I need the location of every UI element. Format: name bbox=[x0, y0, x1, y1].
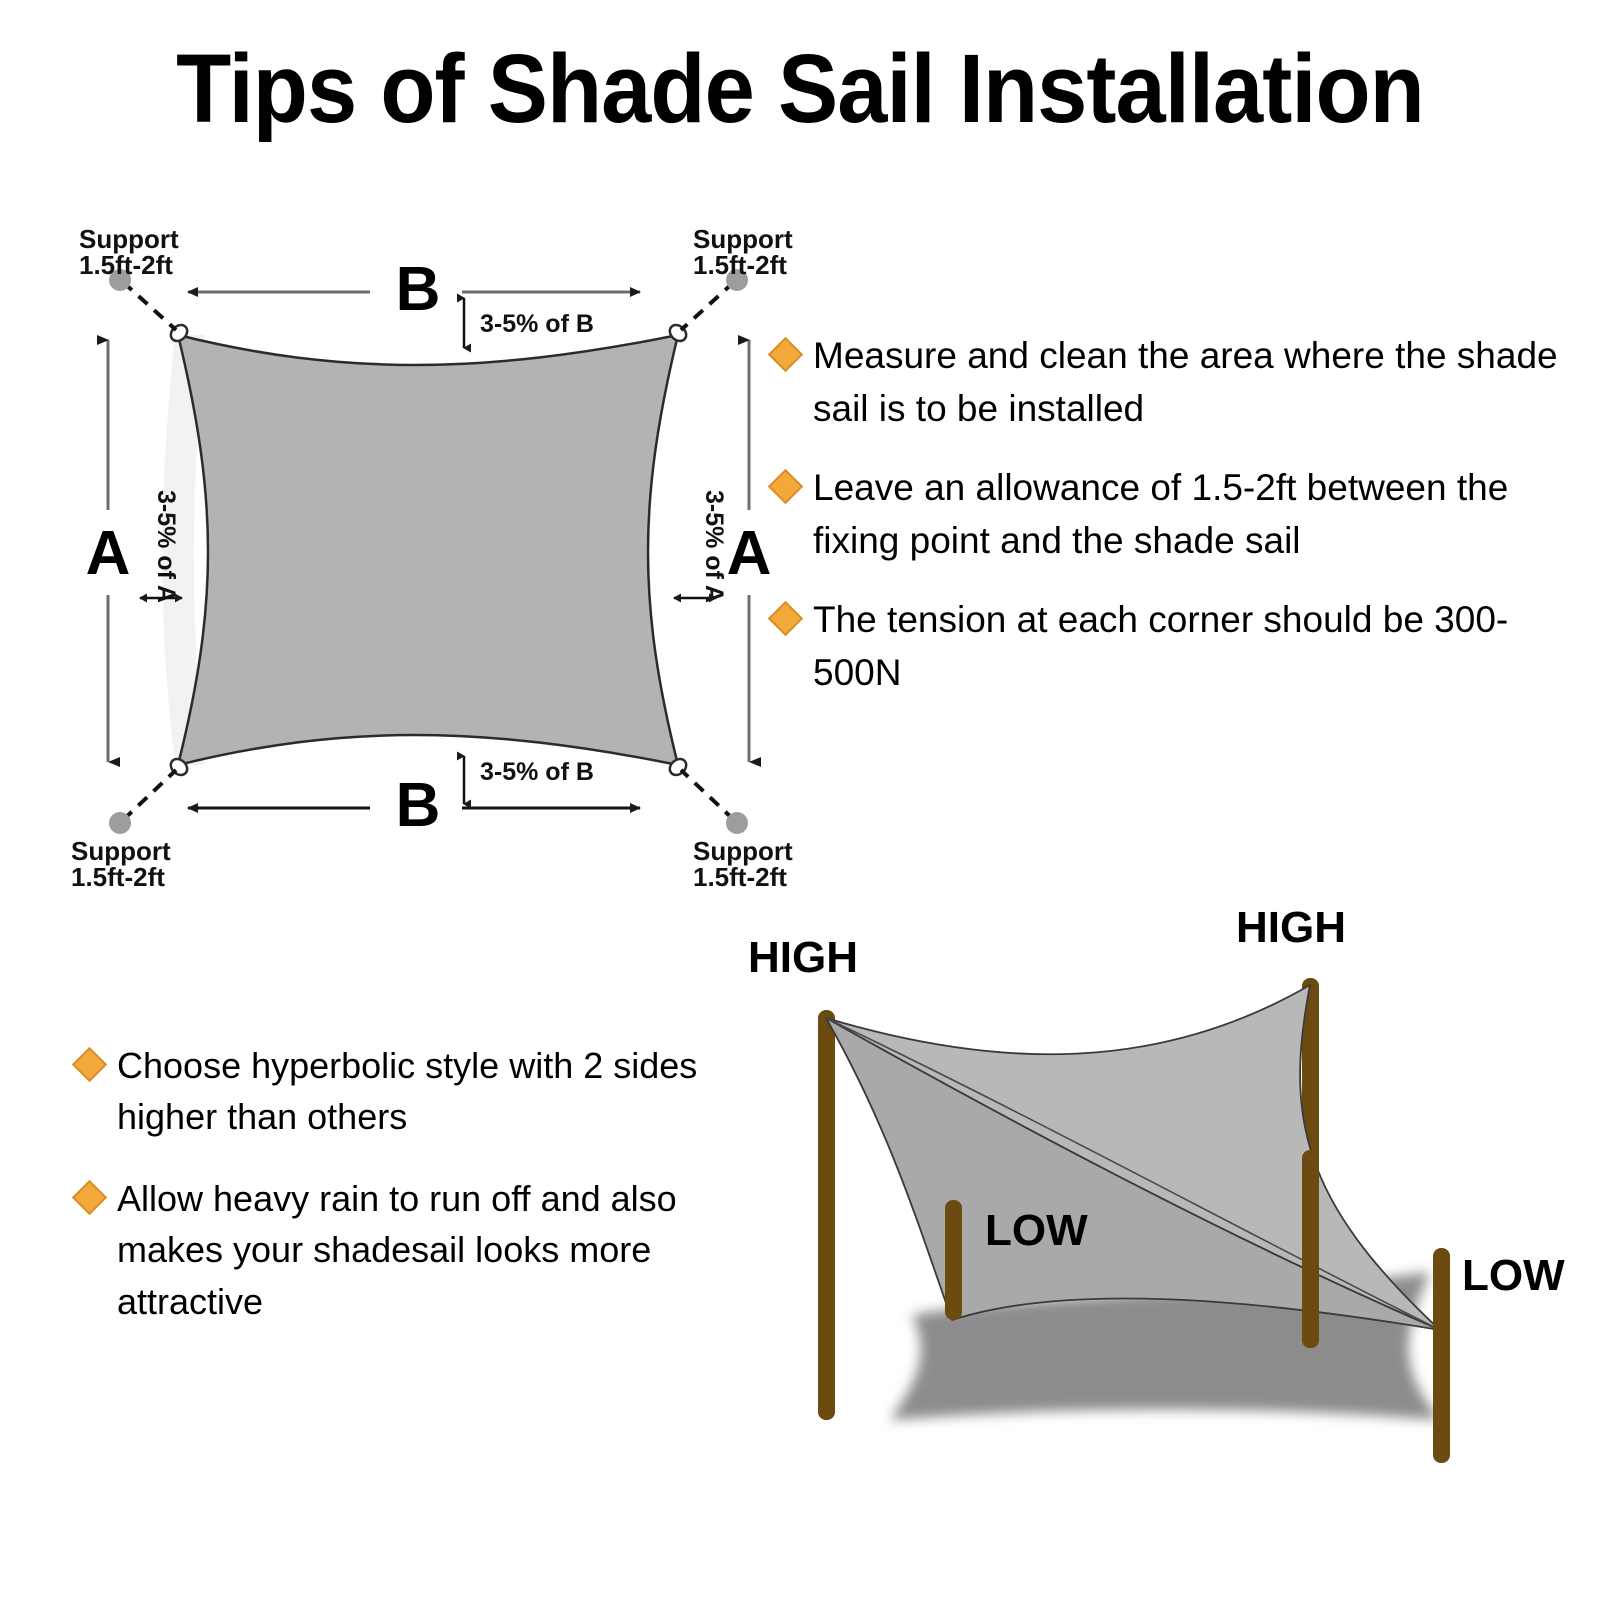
tip-text: Choose hyperbolic style with 2 sides hig… bbox=[117, 1040, 774, 1143]
dim-label-bottom-curve: 3-5% of B bbox=[480, 758, 594, 786]
pole-high-left bbox=[818, 1010, 835, 1420]
dim-label-left-a: A bbox=[86, 519, 131, 588]
dim-label-right-curve: 3-5% of A bbox=[700, 490, 728, 603]
tips-list-bottom-left: Choose hyperbolic style with 2 sides hig… bbox=[74, 1040, 774, 1357]
page-title: Tips of Shade Sail Installation bbox=[56, 40, 1544, 137]
list-item: Allow heavy rain to run off and also mak… bbox=[74, 1173, 774, 1327]
dim-label-left-curve: 3-5% of A bbox=[152, 490, 180, 603]
dim-label-right-a: A bbox=[727, 519, 772, 588]
tip-text: The tension at each corner should be 300… bbox=[813, 594, 1560, 700]
diamond-bullet-icon bbox=[770, 602, 800, 632]
support-dot-bottom-right bbox=[726, 812, 748, 834]
support-line-top-right bbox=[681, 282, 734, 330]
support-label-top-right-line2: 1.5ft-2ft bbox=[693, 250, 787, 280]
diamond-bullet-icon bbox=[74, 1181, 104, 1211]
support-label-top-left-line2: 1.5ft-2ft bbox=[79, 250, 173, 280]
pole-low-right bbox=[1433, 1248, 1450, 1463]
pole-low-left bbox=[945, 1200, 962, 1320]
pole-high-right-front bbox=[1302, 1150, 1319, 1348]
dim-label-bottom-b: B bbox=[396, 771, 441, 840]
label-high-right: HIGH bbox=[1236, 903, 1346, 952]
support-label-bottom-right-line2: 1.5ft-2ft bbox=[693, 862, 787, 892]
support-line-bottom-right bbox=[681, 770, 734, 820]
support-dot-bottom-left bbox=[109, 812, 131, 834]
support-label-bottom-left-line2: 1.5ft-2ft bbox=[71, 862, 165, 892]
label-low-left: LOW bbox=[985, 1206, 1088, 1255]
tips-list-right: Measure and clean the area where the sha… bbox=[770, 330, 1560, 725]
diamond-bullet-icon bbox=[770, 470, 800, 500]
label-high-left: HIGH bbox=[748, 933, 858, 982]
list-item: Leave an allowance of 1.5-2ft between th… bbox=[770, 462, 1560, 568]
list-item: Measure and clean the area where the sha… bbox=[770, 330, 1560, 436]
diamond-bullet-icon bbox=[74, 1048, 104, 1078]
list-item: The tension at each corner should be 300… bbox=[770, 594, 1560, 700]
support-line-bottom-left bbox=[123, 770, 176, 820]
dim-label-top-b: B bbox=[396, 255, 441, 324]
hyperbolic-shade-sail-diagram: HIGH HIGH LOW LOW bbox=[740, 900, 1600, 1560]
shade-sail-square-shape bbox=[178, 335, 678, 765]
support-line-top-left bbox=[123, 282, 176, 330]
label-low-right: LOW bbox=[1462, 1251, 1565, 1300]
tip-text: Leave an allowance of 1.5-2ft between th… bbox=[813, 462, 1560, 568]
diamond-bullet-icon bbox=[770, 338, 800, 368]
tip-text: Allow heavy rain to run off and also mak… bbox=[117, 1173, 774, 1327]
tip-text: Measure and clean the area where the sha… bbox=[813, 330, 1560, 436]
square-shade-sail-diagram: Support 1.5ft-2ft Support 1.5ft-2ft Supp… bbox=[40, 200, 800, 900]
dim-label-top-curve: 3-5% of B bbox=[480, 310, 594, 338]
list-item: Choose hyperbolic style with 2 sides hig… bbox=[74, 1040, 774, 1143]
